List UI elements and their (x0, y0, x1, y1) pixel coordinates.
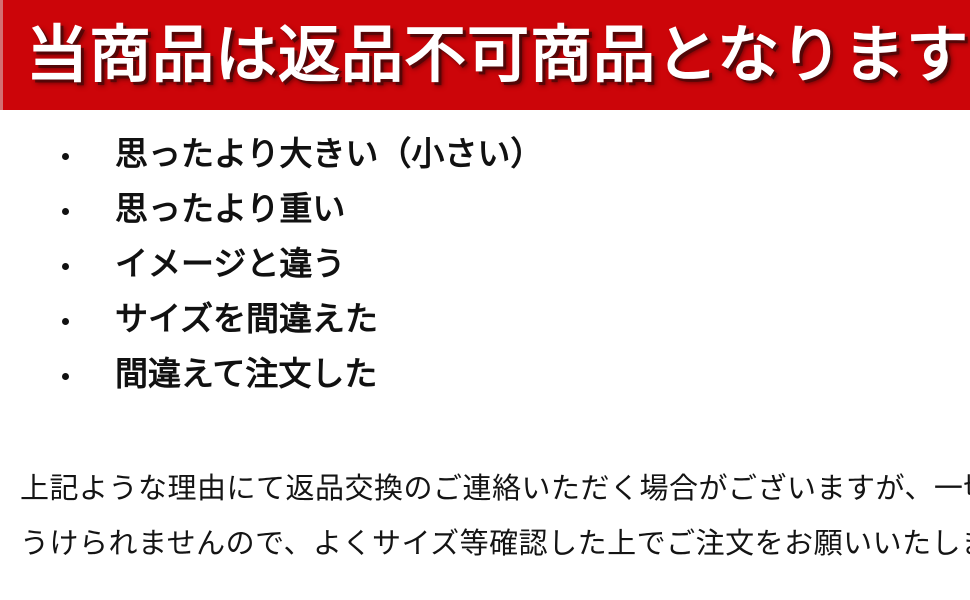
footer-line-2: うけられませんので、よくサイズ等確認した上でご注文をお願いいたします。 (20, 517, 955, 572)
bullet-dot-icon (62, 318, 69, 325)
banner-title: 当商品は返品不可商品となります (26, 13, 946, 97)
notice-banner: 当商品は返品不可商品となります (0, 0, 970, 110)
list-item: イメージと違う (0, 238, 970, 293)
list-item: 間違えて注文した (0, 348, 970, 403)
list-item: 思ったより重い (0, 183, 970, 238)
return-policy-notice: 当商品は返品不可商品となります 思ったより大きい（小さい） 思ったより重い イメ… (0, 0, 970, 600)
reason-label: 思ったより重い (115, 192, 345, 228)
bullet-dot-icon (62, 208, 69, 215)
reason-label: サイズを間違えた (115, 302, 378, 338)
reason-label: 思ったより大きい（小さい） (115, 137, 543, 173)
reason-label: イメージと違う (115, 247, 345, 283)
list-item: 思ったより大きい（小さい） (0, 128, 970, 183)
bullet-dot-icon (62, 153, 69, 160)
footer-note: 上記ような理由にて返品交換のご連絡いただく場合がございますが、一切 うけられませ… (20, 462, 955, 572)
reason-label: 間違えて注文した (115, 357, 377, 393)
bullet-dot-icon (62, 263, 69, 270)
footer-line-1: 上記ような理由にて返品交換のご連絡いただく場合がございますが、一切 (20, 462, 955, 517)
reason-list: 思ったより大きい（小さい） 思ったより重い イメージと違う サイズを間違えた 間… (0, 128, 970, 403)
bullet-dot-icon (62, 373, 69, 380)
list-item: サイズを間違えた (0, 293, 970, 348)
